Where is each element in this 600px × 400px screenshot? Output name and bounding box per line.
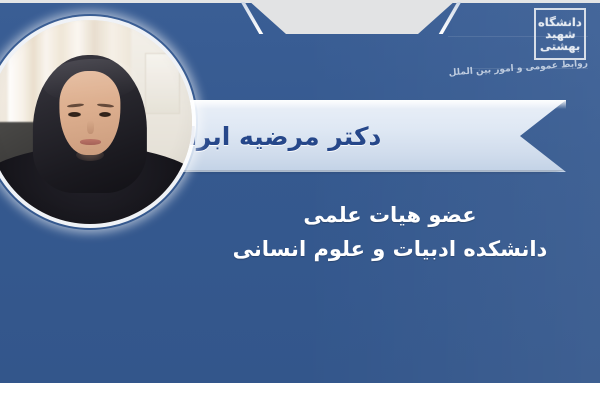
faculty-department: دانشکده ادبیات و علوم انسانی: [180, 232, 600, 266]
university-logo-mark: دانشگاه شهید بهشتی: [534, 8, 586, 60]
portrait-container: [0, 14, 198, 230]
logo-line-1: دانشگاه: [538, 17, 582, 28]
faculty-profile-card: دکتر مرضیه ابراهیمی عضو هیات علمی دانشکد…: [0, 0, 600, 400]
logo-line-3: بهشتی: [540, 41, 580, 52]
public-relations-label: روابط عمومی و امور بین الملل: [492, 59, 588, 76]
university-logo: دانشگاه شهید بهشتی روابط عمومی و امور بی…: [492, 6, 588, 84]
faculty-position: عضو هیات علمی: [180, 198, 600, 232]
subtitle-block: عضو هیات علمی دانشکده ادبیات و علوم انسا…: [180, 198, 600, 266]
logo-line-2: شهید: [545, 29, 575, 40]
